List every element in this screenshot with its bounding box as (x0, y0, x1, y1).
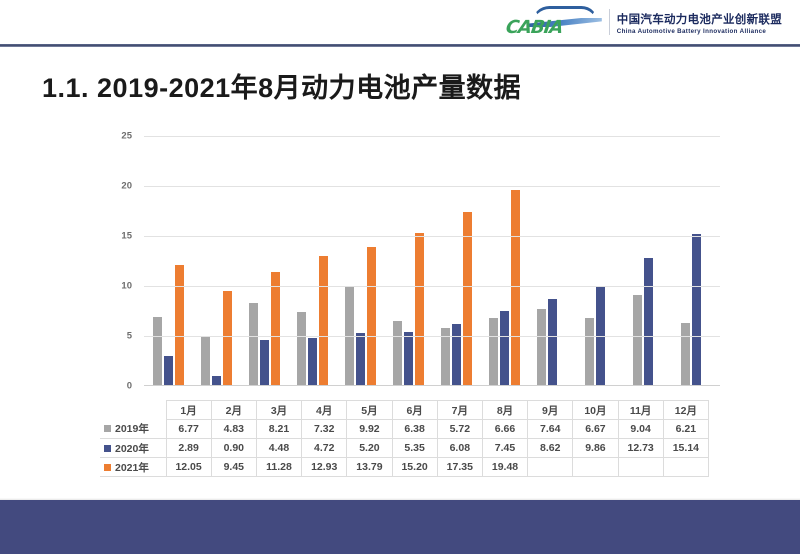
bar-group-7月 (432, 136, 480, 385)
legend-item-2021年: 2021年 (100, 458, 166, 477)
bar-2020年-9月 (548, 299, 557, 385)
bar-group-8月 (480, 136, 528, 385)
table-col-header-1月: 1月 (166, 401, 211, 420)
bar-group-9月 (528, 136, 576, 385)
table-cell-2020年-8月: 7.45 (482, 439, 527, 458)
table-cell-2019年-8月: 6.66 (482, 420, 527, 439)
y-axis: 0510152025 (100, 136, 138, 386)
legend-item-label: 2019年 (115, 423, 149, 435)
table-cell-2021年-10月 (573, 458, 618, 477)
table-cell-2021年-5月: 13.79 (347, 458, 392, 477)
bar-2020年-8月 (500, 311, 509, 386)
table-row: 2021年12.059.4511.2812.9313.7915.2017.351… (100, 458, 709, 477)
bar-group-6月 (384, 136, 432, 385)
bar-group-11月 (624, 136, 672, 385)
org-name-en: China Automotive Battery Innovation Alli… (617, 28, 782, 35)
legend-swatch-icon (104, 445, 111, 452)
table-cell-2019年-2月: 4.83 (211, 420, 256, 439)
table-cell-2020年-9月: 8.62 (528, 439, 573, 458)
table-head: 1月2月3月4月5月6月7月8月9月10月11月12月 (100, 401, 709, 420)
gridline (144, 286, 720, 287)
table-cell-2021年-4月: 12.93 (302, 458, 347, 477)
table-cell-2020年-2月: 0.90 (211, 439, 256, 458)
table-cell-2020年-5月: 5.20 (347, 439, 392, 458)
bar-2021年-6月 (415, 233, 424, 385)
table-col-header-9月: 9月 (528, 401, 573, 420)
bar-2019年-4月 (297, 312, 306, 385)
table-col-header-3月: 3月 (256, 401, 301, 420)
y-axis-tick-label: 10 (121, 281, 132, 292)
bar-group-2月 (192, 136, 240, 385)
table-col-header-10月: 10月 (573, 401, 618, 420)
legend-item-label: 2021年 (115, 462, 149, 474)
bar-2021年-2月 (223, 291, 232, 386)
bar-group-10月 (576, 136, 624, 385)
x-axis-baseline (144, 385, 720, 386)
gridline (144, 336, 720, 337)
table-cell-2019年-5月: 9.92 (347, 420, 392, 439)
table-cell-2021年-2月: 9.45 (211, 458, 256, 477)
table-cell-2019年-7月: 5.72 (437, 420, 482, 439)
bar-2021年-3月 (271, 272, 280, 385)
bar-2019年-8月 (489, 318, 498, 385)
table-cell-2019年-10月: 6.67 (573, 420, 618, 439)
bar-2019年-9月 (537, 309, 546, 385)
bar-2019年-1月 (153, 317, 162, 385)
table-cell-2019年-3月: 8.21 (256, 420, 301, 439)
table-col-header-11月: 11月 (618, 401, 663, 420)
table-cell-2021年-3月: 11.28 (256, 458, 301, 477)
table-cell-2019年-6月: 6.38 (392, 420, 437, 439)
bar-2021年-7月 (463, 212, 472, 386)
organization-names: 中国汽车动力电池产业创新联盟 China Automotive Battery … (617, 9, 782, 35)
table-row: 2020年2.890.904.484.725.205.356.087.458.6… (100, 439, 709, 458)
gridline (144, 136, 720, 137)
table-cell-2020年-12月: 15.14 (663, 439, 708, 458)
table-cell-2021年-9月 (528, 458, 573, 477)
bar-group-1月 (144, 136, 192, 385)
table-cell-2019年-12月: 6.21 (663, 420, 708, 439)
table-col-header-5月: 5月 (347, 401, 392, 420)
logo-divider (609, 9, 610, 35)
bar-2020年-7月 (452, 324, 461, 385)
table-cell-2021年-8月: 19.48 (482, 458, 527, 477)
table-cell-2020年-1月: 2.89 (166, 439, 211, 458)
table-cell-2020年-11月: 12.73 (618, 439, 663, 458)
bar-2020年-1月 (164, 356, 173, 385)
bar-2021年-1月 (175, 265, 184, 386)
cabia-logo-mark: CABIA (506, 6, 602, 38)
table-cell-2021年-6月: 15.20 (392, 458, 437, 477)
bar-group-5月 (336, 136, 384, 385)
bar-2020年-4月 (308, 338, 317, 385)
bar-2020年-6月 (404, 332, 413, 386)
bar-group-4月 (288, 136, 336, 385)
y-axis-tick-label: 25 (121, 131, 132, 142)
table-col-header-2月: 2月 (211, 401, 256, 420)
gridline (144, 186, 720, 187)
table-cell-2019年-11月: 9.04 (618, 420, 663, 439)
y-axis-tick-label: 0 (127, 381, 132, 392)
alliance-logo: CABIA 中国汽车动力电池产业创新联盟 China Automotive Ba… (506, 6, 782, 38)
table-cell-2019年-9月: 7.64 (528, 420, 573, 439)
table-cell-2021年-7月: 17.35 (437, 458, 482, 477)
bar-2019年-12月 (681, 323, 690, 385)
bar-2019年-2月 (201, 337, 210, 385)
legend-item-2019年: 2019年 (100, 420, 166, 439)
bar-2020年-2月 (212, 376, 221, 385)
y-axis-tick-label: 5 (127, 331, 132, 342)
table-col-header-12月: 12月 (663, 401, 708, 420)
page-title: 1.1. 2019-2021年8月动力电池产量数据 (42, 66, 521, 105)
bar-2019年-6月 (393, 321, 402, 385)
table-cell-2020年-3月: 4.48 (256, 439, 301, 458)
production-bar-chart: 0510152025 (100, 136, 720, 408)
bar-2020年-12月 (692, 234, 701, 385)
gridline (144, 236, 720, 237)
plot-area (144, 136, 720, 386)
table-row: 2019年6.774.838.217.329.926.385.726.667.6… (100, 420, 709, 439)
bar-series-container (144, 136, 720, 385)
bar-2021年-8月 (511, 190, 520, 385)
table-cell-2019年-1月: 6.77 (166, 420, 211, 439)
bar-2020年-11月 (644, 258, 653, 385)
legend-item-label: 2020年 (115, 443, 149, 455)
bar-2020年-5月 (356, 333, 365, 385)
table-cell-2020年-7月: 6.08 (437, 439, 482, 458)
bar-group-12月 (672, 136, 720, 385)
table-cell-2020年-10月: 9.86 (573, 439, 618, 458)
table-col-header-8月: 8月 (482, 401, 527, 420)
y-axis-tick-label: 20 (121, 181, 132, 192)
table-cell-2021年-11月 (618, 458, 663, 477)
table-cell-2020年-4月: 4.72 (302, 439, 347, 458)
table-cell-2019年-4月: 7.32 (302, 420, 347, 439)
bar-2021年-5月 (367, 247, 376, 385)
bar-2019年-10月 (585, 318, 594, 385)
bar-2019年-3月 (249, 303, 258, 385)
table-col-header-7月: 7月 (437, 401, 482, 420)
table-cell-2020年-6月: 5.35 (392, 439, 437, 458)
data-table: 1月2月3月4月5月6月7月8月9月10月11月12月 2019年6.774.8… (100, 400, 709, 477)
bar-group-3月 (240, 136, 288, 385)
footer-band (0, 500, 800, 554)
table-corner-cell (100, 401, 166, 420)
table-cell-2021年-12月 (663, 458, 708, 477)
legend-item-2020年: 2020年 (100, 439, 166, 458)
header-divider-rule (0, 44, 800, 47)
legend-swatch-icon (104, 464, 111, 471)
bar-2021年-4月 (319, 256, 328, 385)
table-col-header-6月: 6月 (392, 401, 437, 420)
bar-2020年-3月 (260, 340, 269, 385)
table-header-row: 1月2月3月4月5月6月7月8月9月10月11月12月 (100, 401, 709, 420)
cabia-wordmark: CABIA (504, 17, 563, 38)
legend-swatch-icon (104, 425, 111, 432)
table-cell-2021年-1月: 12.05 (166, 458, 211, 477)
org-name-cn: 中国汽车动力电池产业创新联盟 (617, 11, 782, 27)
table-body: 2019年6.774.838.217.329.926.385.726.667.6… (100, 420, 709, 477)
bar-2019年-11月 (633, 295, 642, 385)
slide-header: CABIA 中国汽车动力电池产业创新联盟 China Automotive Ba… (0, 0, 800, 46)
table-col-header-4月: 4月 (302, 401, 347, 420)
y-axis-tick-label: 15 (121, 231, 132, 242)
